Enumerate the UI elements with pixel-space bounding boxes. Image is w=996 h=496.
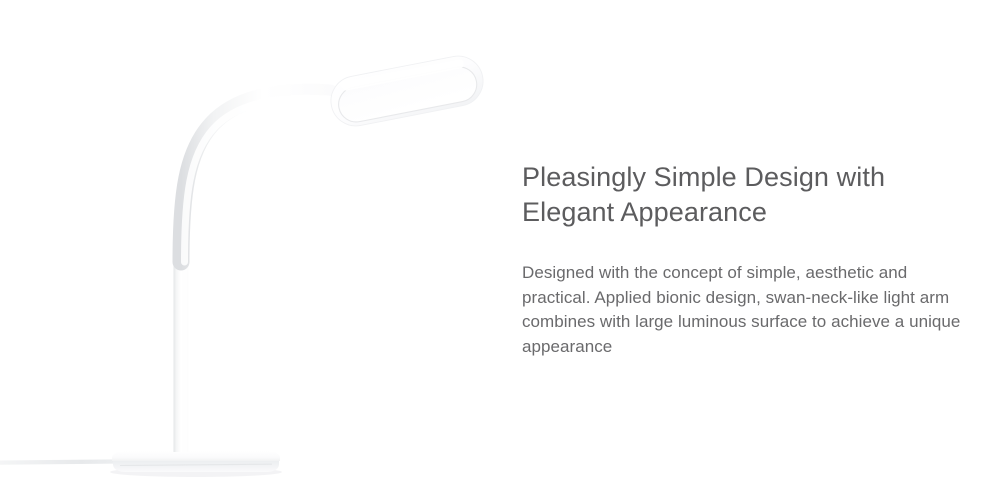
power-cable-icon	[0, 462, 116, 463]
marketing-copy: Pleasingly Simple Design with Elegant Ap…	[522, 160, 974, 359]
lamp-arm	[181, 92, 330, 262]
lamp-post	[174, 244, 189, 452]
lamp-head	[327, 52, 488, 130]
product-feature-banner: Pleasingly Simple Design with Elegant Ap…	[0, 0, 996, 496]
body-copy: Designed with the concept of simple, aes…	[522, 230, 974, 359]
headline: Pleasingly Simple Design with Elegant Ap…	[522, 160, 974, 230]
product-image	[0, 0, 510, 496]
lamp-base	[112, 451, 280, 472]
